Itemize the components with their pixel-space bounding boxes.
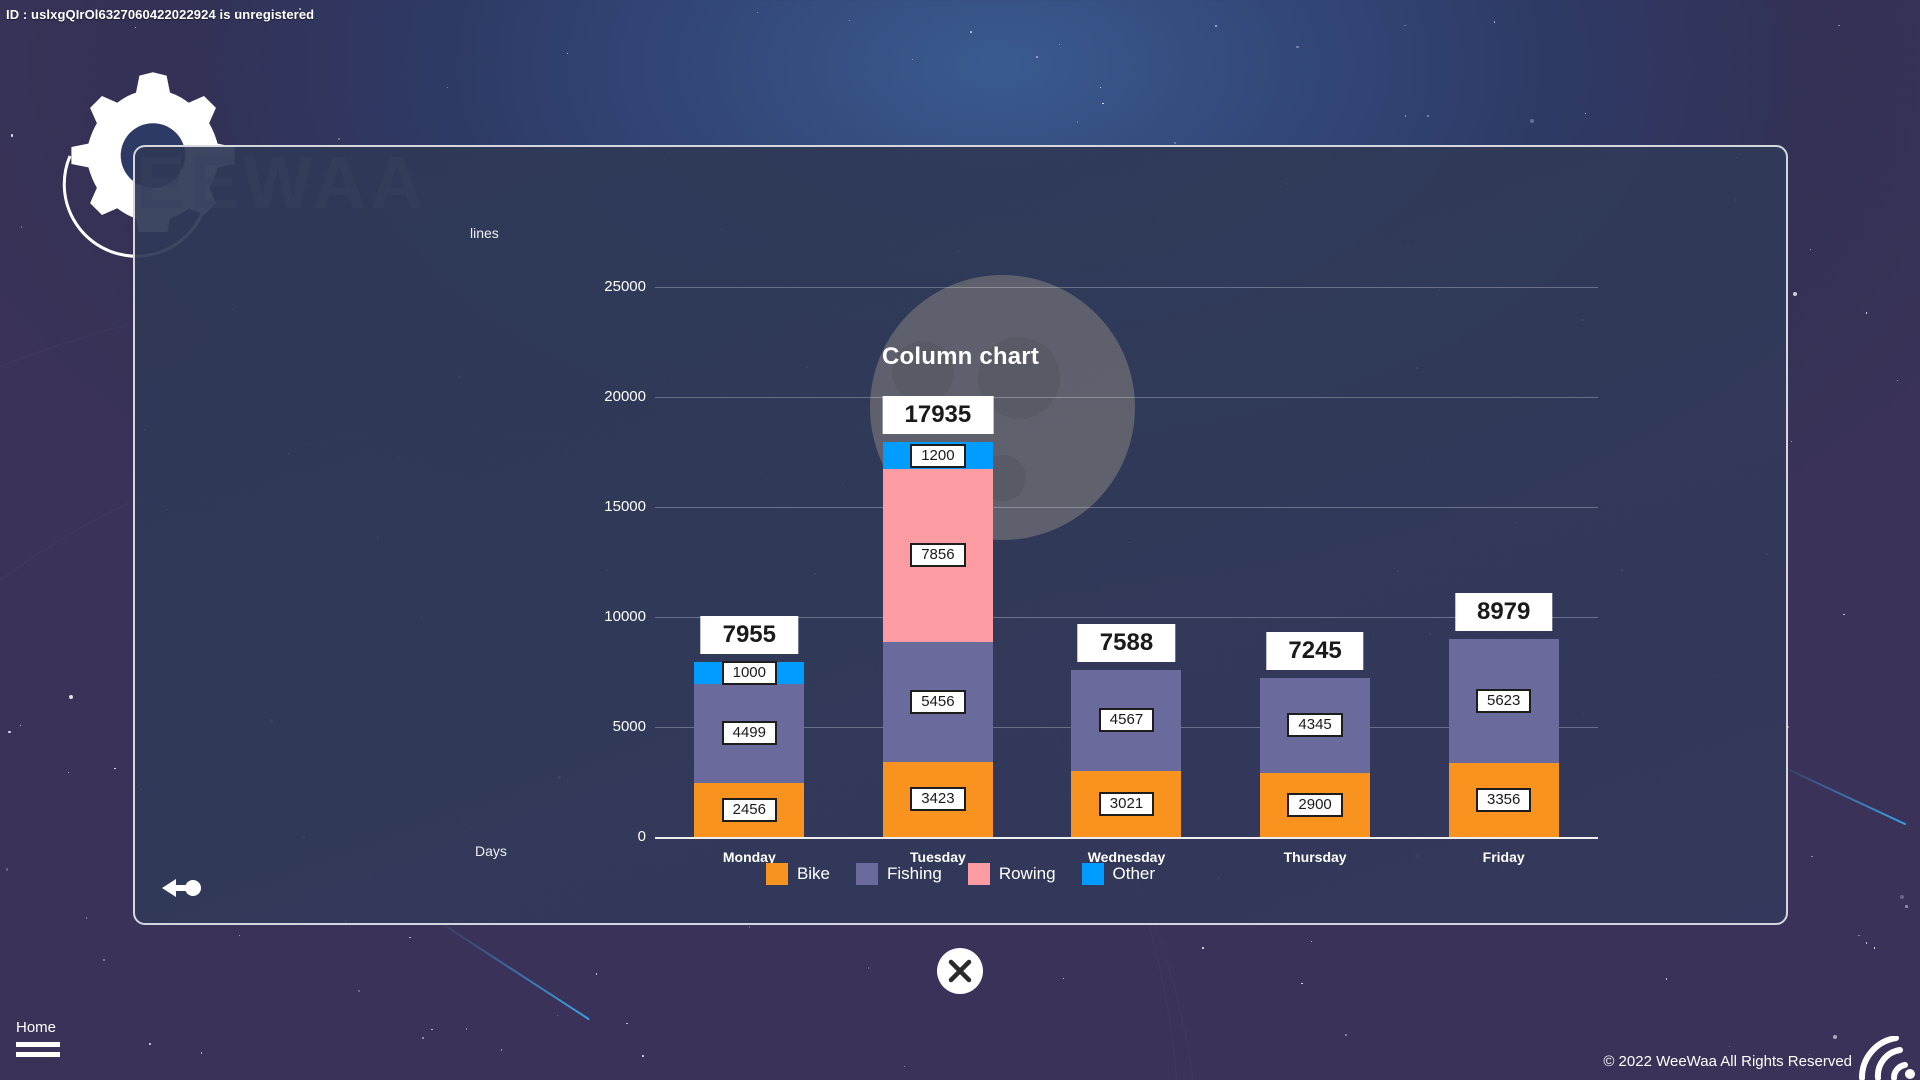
unregistered-notice: ID : uslxgQIrOl6327060422022924 is unreg… xyxy=(6,7,314,22)
bar-segment-fishing[interactable]: 4345 xyxy=(1260,678,1370,774)
y-axis-tick: 5000 xyxy=(526,718,646,735)
bar-segment-rowing[interactable]: 7856 xyxy=(883,469,993,642)
star xyxy=(135,100,137,102)
star xyxy=(1843,614,1845,616)
y-axis-tick: 0 xyxy=(526,828,646,845)
star xyxy=(21,226,23,228)
star xyxy=(69,695,73,699)
star xyxy=(1866,942,1868,944)
star xyxy=(868,967,870,969)
star xyxy=(626,1023,628,1025)
star xyxy=(1494,21,1496,23)
star xyxy=(1900,895,1904,899)
bar-column[interactable]: 342354567856120017935Tuesday xyxy=(883,442,993,837)
bar-segment-other[interactable]: 1000 xyxy=(694,662,804,684)
star xyxy=(1833,1035,1837,1039)
legend-label: Rowing xyxy=(999,864,1056,884)
star xyxy=(68,772,70,774)
bar-stack: 342354567856120017935 xyxy=(883,442,993,837)
star xyxy=(1296,46,1299,49)
comet-streak-2 xyxy=(429,915,589,1020)
star xyxy=(642,1055,644,1057)
bar-segment-value: 1200 xyxy=(910,444,965,468)
star xyxy=(1059,44,1061,46)
star xyxy=(904,1066,906,1068)
legend-swatch xyxy=(856,863,878,885)
chart-legend: BikeFishingRowingOther xyxy=(135,863,1786,885)
bar-segment-value: 3356 xyxy=(1476,788,1531,812)
bar-segment-bike[interactable]: 3021 xyxy=(1071,771,1181,837)
star xyxy=(849,20,851,22)
bar-segment-bike[interactable]: 2900 xyxy=(1260,773,1370,837)
star xyxy=(1036,56,1038,58)
star xyxy=(912,59,914,61)
star xyxy=(1102,103,1104,105)
bar-segment-value: 4345 xyxy=(1287,713,1342,737)
legend-swatch xyxy=(766,863,788,885)
bar-segment-value: 7856 xyxy=(910,543,965,567)
bar-stack: 2456449910007955 xyxy=(694,662,804,837)
star xyxy=(1666,978,1668,980)
chart-panel: Column chart lines Days 2500020000150001… xyxy=(133,145,1788,925)
legend-swatch xyxy=(1082,863,1104,885)
legend-item-bike[interactable]: Bike xyxy=(766,863,830,885)
bar-column[interactable]: 290043457245Thursday xyxy=(1260,678,1370,837)
chart-canvas: lines Days 2500020000150001000050000 245… xyxy=(135,147,1786,923)
bar-total-label: 7245 xyxy=(1266,632,1363,670)
bar-segment-value: 1000 xyxy=(722,661,777,685)
star xyxy=(1729,1046,1731,1048)
star xyxy=(1905,905,1908,908)
bar-total-label: 8979 xyxy=(1455,593,1552,631)
star xyxy=(1791,441,1793,443)
plot-region: 2500020000150001000050000 24564499100079… xyxy=(655,269,1598,925)
bar-segment-other[interactable]: 1200 xyxy=(883,442,993,468)
star xyxy=(1427,115,1429,117)
star xyxy=(1063,978,1065,980)
legend-item-rowing[interactable]: Rowing xyxy=(968,863,1056,885)
close-icon xyxy=(947,958,973,984)
home-underline-2 xyxy=(16,1052,60,1057)
bar-stack: 302145677588 xyxy=(1071,670,1181,837)
star xyxy=(447,87,449,89)
star xyxy=(149,1043,151,1045)
star xyxy=(338,138,340,140)
y-axis-label: lines xyxy=(470,225,499,241)
star xyxy=(757,12,759,14)
bar-column[interactable]: 302145677588Wednesday xyxy=(1071,670,1181,837)
star xyxy=(1202,947,1204,949)
star xyxy=(567,53,569,55)
star xyxy=(501,1049,503,1051)
star xyxy=(1874,947,1876,949)
home-link[interactable]: Home xyxy=(16,1019,76,1057)
bar-column[interactable]: 335656238979Friday xyxy=(1449,639,1559,837)
star xyxy=(1077,121,1079,123)
bar-segment-value: 4499 xyxy=(722,721,777,745)
star xyxy=(431,1029,433,1031)
close-button[interactable] xyxy=(937,948,983,994)
bar-segment-bike[interactable]: 2456 xyxy=(694,783,804,837)
bar-segment-value: 5623 xyxy=(1476,689,1531,713)
bar-segment-value: 3021 xyxy=(1099,792,1154,816)
star xyxy=(114,768,116,770)
star xyxy=(201,1052,203,1054)
star xyxy=(422,1037,424,1039)
star xyxy=(1858,935,1860,937)
back-arrow-icon[interactable] xyxy=(160,875,202,901)
star xyxy=(6,868,9,871)
star xyxy=(8,731,11,734)
legend-item-fishing[interactable]: Fishing xyxy=(856,863,942,885)
bar-segment-value: 4567 xyxy=(1099,708,1154,732)
star xyxy=(1215,25,1217,27)
bar-segment-value: 2456 xyxy=(722,798,777,822)
star xyxy=(1530,119,1534,123)
star xyxy=(1301,983,1303,985)
star xyxy=(239,935,241,937)
star xyxy=(20,725,22,727)
star xyxy=(1897,380,1899,382)
y-axis-tick: 15000 xyxy=(526,498,646,515)
star xyxy=(596,973,598,975)
star xyxy=(409,937,411,939)
legend-label: Fishing xyxy=(887,864,942,884)
wifi-icon xyxy=(1854,1036,1918,1080)
bar-segment-value: 3423 xyxy=(910,787,965,811)
bar-segment-fishing[interactable]: 5623 xyxy=(1449,639,1559,763)
star xyxy=(1838,25,1840,27)
star xyxy=(11,134,14,137)
y-axis-tick: 10000 xyxy=(526,608,646,625)
bar-total-label: 17935 xyxy=(883,396,994,434)
star xyxy=(1174,142,1176,144)
star xyxy=(86,917,88,919)
bar-stack: 335656238979 xyxy=(1449,639,1559,837)
x-axis-label: Days xyxy=(475,843,507,859)
star xyxy=(1793,292,1797,296)
star xyxy=(557,1015,559,1017)
star xyxy=(970,31,972,33)
bar-segment-bike[interactable]: 3423 xyxy=(883,762,993,837)
bar-segment-value: 5456 xyxy=(910,690,965,714)
star xyxy=(1345,1034,1347,1036)
bar-column[interactable]: 2456449910007955Monday xyxy=(694,662,804,837)
comet-streak-1 xyxy=(1770,760,1907,825)
bar-segment-fishing[interactable]: 4499 xyxy=(694,684,804,783)
legend-swatch xyxy=(968,863,990,885)
star xyxy=(749,926,751,928)
star xyxy=(358,990,360,992)
star xyxy=(1810,249,1812,251)
star xyxy=(1404,25,1406,27)
bar-stack: 290043457245 xyxy=(1260,678,1370,837)
star xyxy=(1585,113,1587,115)
bar-total-label: 7955 xyxy=(701,616,798,654)
star xyxy=(1811,856,1813,858)
legend-item-other[interactable]: Other xyxy=(1082,863,1156,885)
y-axis-tick: 20000 xyxy=(526,388,646,405)
star xyxy=(1100,87,1102,89)
star xyxy=(466,1028,468,1030)
bar-segment-value: 2900 xyxy=(1287,793,1342,817)
bar-total-label: 7588 xyxy=(1078,624,1175,662)
star xyxy=(1311,941,1313,943)
bar-segment-fishing[interactable]: 5456 xyxy=(883,642,993,762)
gridline xyxy=(655,837,1598,839)
bar-group: 2456449910007955Monday342354567856120017… xyxy=(655,287,1598,837)
star xyxy=(103,959,105,961)
star xyxy=(1405,115,1407,117)
star xyxy=(135,27,137,29)
copyright-text: © 2022 WeeWaa All Rights Reserved xyxy=(1603,1053,1852,1070)
legend-label: Bike xyxy=(797,864,830,884)
star xyxy=(1866,312,1868,314)
home-underline-1 xyxy=(16,1042,60,1047)
bar-segment-fishing[interactable]: 4567 xyxy=(1071,670,1181,770)
legend-label: Other xyxy=(1113,864,1156,884)
y-axis-tick: 25000 xyxy=(526,278,646,295)
bar-segment-bike[interactable]: 3356 xyxy=(1449,763,1559,837)
home-label: Home xyxy=(16,1019,76,1037)
